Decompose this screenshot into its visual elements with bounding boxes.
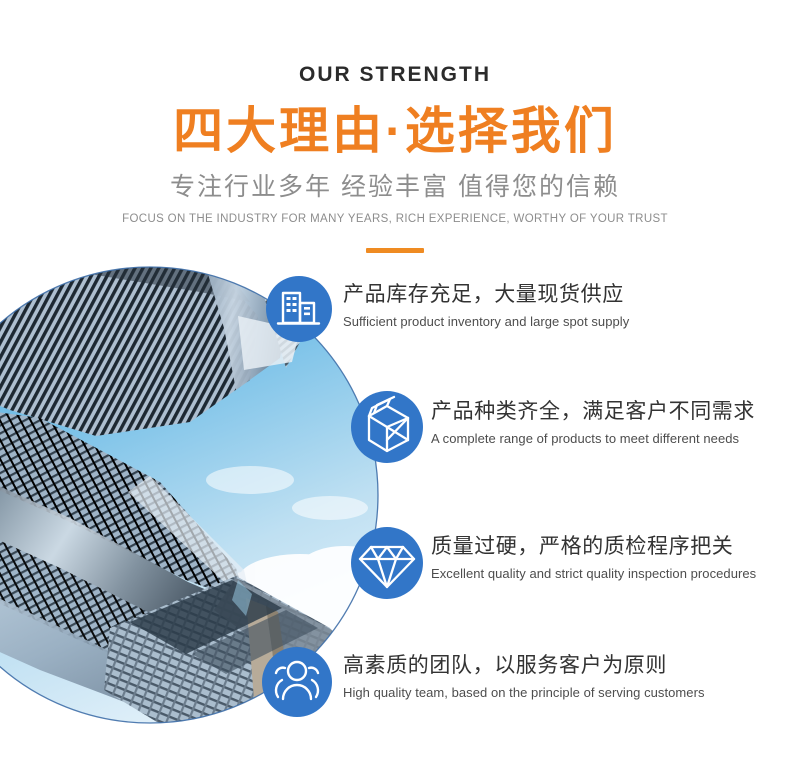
item-title: 产品种类齐全，满足客户不同需求 xyxy=(431,400,755,423)
eyebrow-label: OUR STRENGTH xyxy=(0,64,790,85)
list-item: 高素质的团队，以服务客户为原则 High quality team, based… xyxy=(343,654,705,700)
page-header: OUR STRENGTH 四大理由·选择我们 专注行业多年 经验丰富 值得您的信… xyxy=(0,0,790,253)
item-icon-3[interactable] xyxy=(351,527,423,599)
page-title: 四大理由·选择我们 xyxy=(0,103,790,159)
list-item: 质量过硬，严格的质检程序把关 Excellent quality and str… xyxy=(431,535,756,581)
item-icon-2[interactable] xyxy=(351,391,423,463)
item-title: 高素质的团队，以服务客户为原则 xyxy=(343,654,705,677)
item-subtitle: A complete range of products to meet dif… xyxy=(431,432,755,446)
item-subtitle: Excellent quality and strict quality ins… xyxy=(431,567,756,581)
team-people-icon-circle[interactable] xyxy=(262,647,332,717)
list-item: 产品库存充足，大量现货供应 Sufficient product invento… xyxy=(343,283,629,329)
subtitle-chinese: 专注行业多年 经验丰富 值得您的信赖 xyxy=(0,175,790,200)
subtitle-english: FOCUS ON THE INDUSTRY FOR MANY YEARS, RI… xyxy=(0,214,790,226)
item-icon-1[interactable] xyxy=(266,276,332,342)
item-subtitle: Sufficient product inventory and large s… xyxy=(343,315,629,329)
strength-diagram: 产品库存充足，大量现货供应 Sufficient product invento… xyxy=(0,250,790,760)
item-subtitle: High quality team, based on the principl… xyxy=(343,686,705,700)
diamond-icon-circle[interactable] xyxy=(351,527,423,599)
item-icon-4[interactable] xyxy=(262,647,332,717)
item-title: 产品库存充足，大量现货供应 xyxy=(343,283,629,306)
list-item: 产品种类齐全，满足客户不同需求 A complete range of prod… xyxy=(431,400,755,446)
item-title: 质量过硬，严格的质检程序把关 xyxy=(431,535,756,558)
